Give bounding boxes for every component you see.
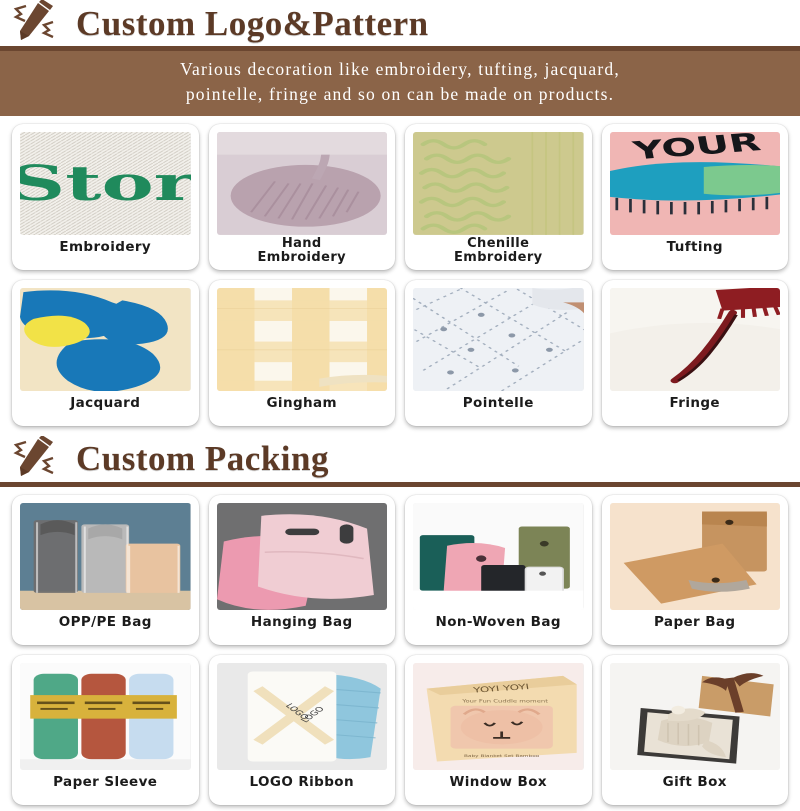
gingham-yellow-check-thumb	[217, 288, 388, 391]
card-label: Window Box	[449, 775, 547, 790]
card-label: OPP/PE Bag	[59, 615, 152, 630]
rolled-towels-gold-bands-thumb	[20, 663, 191, 770]
pencil-design-icon	[8, 0, 64, 46]
section-title-packing: Custom Packing	[76, 441, 329, 476]
fringe-dark-red-thumb	[610, 288, 781, 391]
card-label: Gingham	[266, 396, 337, 411]
opp-pe-clear-bags-thumb	[20, 503, 191, 610]
svg-text:Your Fun Cuddle moment: Your Fun Cuddle moment	[461, 699, 549, 704]
subtitle-line-2: pointelle, fringe and so on can be made …	[24, 82, 776, 107]
yoyi-yoyi-window-box-thumb: YOYI YOYI Your Fun Cuddle moment Baby Bl…	[413, 663, 584, 770]
card-label: Hanging Bag	[251, 615, 353, 630]
card-hand-embroidery[interactable]: Hand Embroidery	[209, 124, 396, 270]
hand-embroidery-mauve-fuzz-thumb	[217, 132, 388, 235]
infographic-page: Custom Logo&Pattern Various decoration l…	[0, 0, 800, 800]
card-tufting[interactable]: YOUR Tufting	[602, 124, 789, 270]
card-window-box[interactable]: YOYI YOYI Your Fun Cuddle moment Baby Bl…	[405, 655, 592, 805]
card-hanging-bag[interactable]: Hanging Bag	[209, 495, 396, 645]
card-pointelle[interactable]: Pointelle	[405, 280, 592, 426]
card-jacquard[interactable]: Jacquard	[12, 280, 199, 426]
page-title: Custom Logo&Pattern	[76, 6, 429, 41]
card-paper-bag[interactable]: Paper Bag	[602, 495, 789, 645]
card-label: Gift Box	[663, 775, 727, 790]
tufting-teal-pink-letters-thumb: YOUR	[610, 132, 781, 235]
section-header-packing: Custom Packing	[0, 436, 800, 482]
card-label: Fringe	[670, 396, 720, 411]
card-label: Paper Bag	[654, 615, 735, 630]
card-label: Paper Sleeve	[53, 775, 157, 790]
card-label: Jacquard	[70, 396, 140, 411]
card-label: Tufting	[667, 240, 723, 255]
svg-text:Stor: Stor	[20, 156, 191, 212]
card-chenille-embroidery[interactable]: Chenille Embroidery	[405, 124, 592, 270]
logo-pattern-grid: Stor Embroidery Hand Emb	[0, 116, 800, 432]
card-label: Chenille Embroidery	[454, 237, 543, 266]
card-label: Non-Woven Bag	[436, 615, 561, 630]
card-fringe[interactable]: Fringe	[602, 280, 789, 426]
jacquard-blue-flower-thumb	[20, 288, 191, 391]
pencil-design-icon	[8, 436, 64, 482]
card-label: LOGO Ribbon	[250, 775, 355, 790]
packing-grid: OPP/PE Bag Hanging Bag	[0, 487, 800, 811]
non-woven-envelope-bags-thumb	[413, 503, 584, 610]
white-towel-cream-ribbon-thumb: LOGO LOGO	[217, 663, 388, 770]
kraft-gift-box-brown-ribbon-thumb	[610, 663, 781, 770]
subtitle-line-1: Various decoration like embroidery, tuft…	[24, 57, 776, 82]
pointelle-white-diamond-knit-thumb	[413, 288, 584, 391]
card-non-woven-bag[interactable]: Non-Woven Bag	[405, 495, 592, 645]
section-subtitle-banner: Various decoration like embroidery, tuft…	[0, 51, 800, 116]
svg-text:Baby Blanket Set Bamboo: Baby Blanket Set Bamboo	[464, 754, 539, 759]
card-label: Hand Embroidery	[257, 237, 346, 266]
card-label: Pointelle	[463, 396, 534, 411]
card-logo-ribbon[interactable]: LOGO LOGO LOGO Ribbon	[209, 655, 396, 805]
embroidery-green-stor-text-thumb: Stor	[20, 132, 191, 235]
card-gift-box[interactable]: Gift Box	[602, 655, 789, 805]
card-label: Embroidery	[59, 240, 151, 255]
card-opp-pe-bag[interactable]: OPP/PE Bag	[12, 495, 199, 645]
hanging-pink-poly-mailer-thumb	[217, 503, 388, 610]
card-gingham[interactable]: Gingham	[209, 280, 396, 426]
card-paper-sleeve[interactable]: Paper Sleeve	[12, 655, 199, 805]
kraft-paper-envelope-bags-thumb	[610, 503, 781, 610]
card-embroidery[interactable]: Stor Embroidery	[12, 124, 199, 270]
chenille-green-loops-thumb	[413, 132, 584, 235]
section-header-logo-pattern: Custom Logo&Pattern	[0, 0, 800, 46]
